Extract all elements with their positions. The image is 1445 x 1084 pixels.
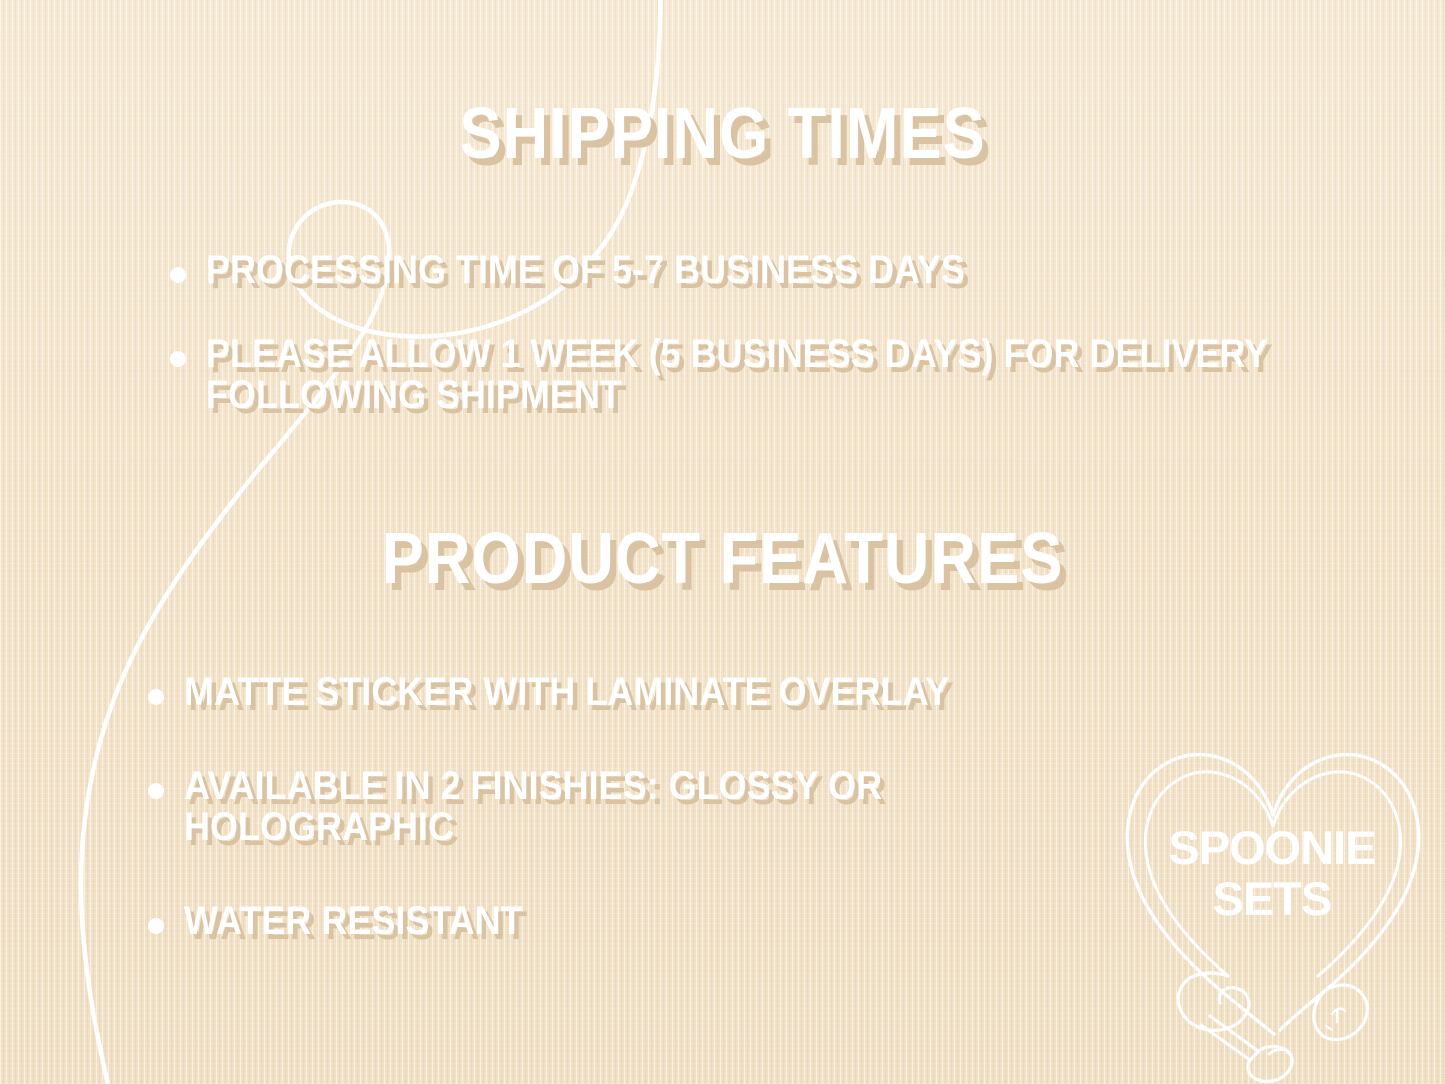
list-item-label: PROCESSING TIME OF 5-7 BUSINESS DAYS xyxy=(206,250,1281,292)
page-title-product-features: PRODUCT FEATURES xyxy=(87,523,1359,595)
features-bullet-list: MATTE STICKER WITH LAMINATE OVERLAY AVAI… xyxy=(148,672,1248,942)
logo-text-line-1: SPOONIE xyxy=(1098,824,1445,871)
poster-canvas: SHIPPING TIMES PROCESSING TIME OF 5-7 BU… xyxy=(0,0,1445,1084)
bullet-dot-icon xyxy=(148,689,164,705)
shipping-bullet-list: PROCESSING TIME OF 5-7 BUSINESS DAYS PLE… xyxy=(170,250,1400,417)
bullet-dot-icon xyxy=(170,267,186,283)
list-item: WATER RESISTANT xyxy=(148,901,1248,943)
list-item: AVAILABLE IN 2 FINISHIES: GLOSSY OR HOLO… xyxy=(148,766,1248,849)
list-item-label: MATTE STICKER WITH LAMINATE OVERLAY xyxy=(184,672,1142,714)
bullet-dot-icon xyxy=(148,783,164,799)
page-title-shipping-times: SHIPPING TIMES xyxy=(87,98,1359,170)
bullet-dot-icon xyxy=(148,918,164,934)
list-item: PROCESSING TIME OF 5-7 BUSINESS DAYS xyxy=(170,250,1400,292)
bullet-dot-icon xyxy=(170,351,186,367)
logo-text-line-2: SETS xyxy=(1098,875,1445,922)
list-item-label: WATER RESISTANT xyxy=(184,901,1142,943)
list-item: MATTE STICKER WITH LAMINATE OVERLAY xyxy=(148,672,1248,714)
list-item-label: PLEASE ALLOW 1 WEEK (5 BUSINESS DAYS) FO… xyxy=(206,334,1281,417)
list-item: PLEASE ALLOW 1 WEEK (5 BUSINESS DAYS) FO… xyxy=(170,334,1400,417)
brand-logo: SPOONIE SETS xyxy=(1098,742,1445,1084)
list-item-label: AVAILABLE IN 2 FINISHIES: GLOSSY OR HOLO… xyxy=(184,766,1142,849)
